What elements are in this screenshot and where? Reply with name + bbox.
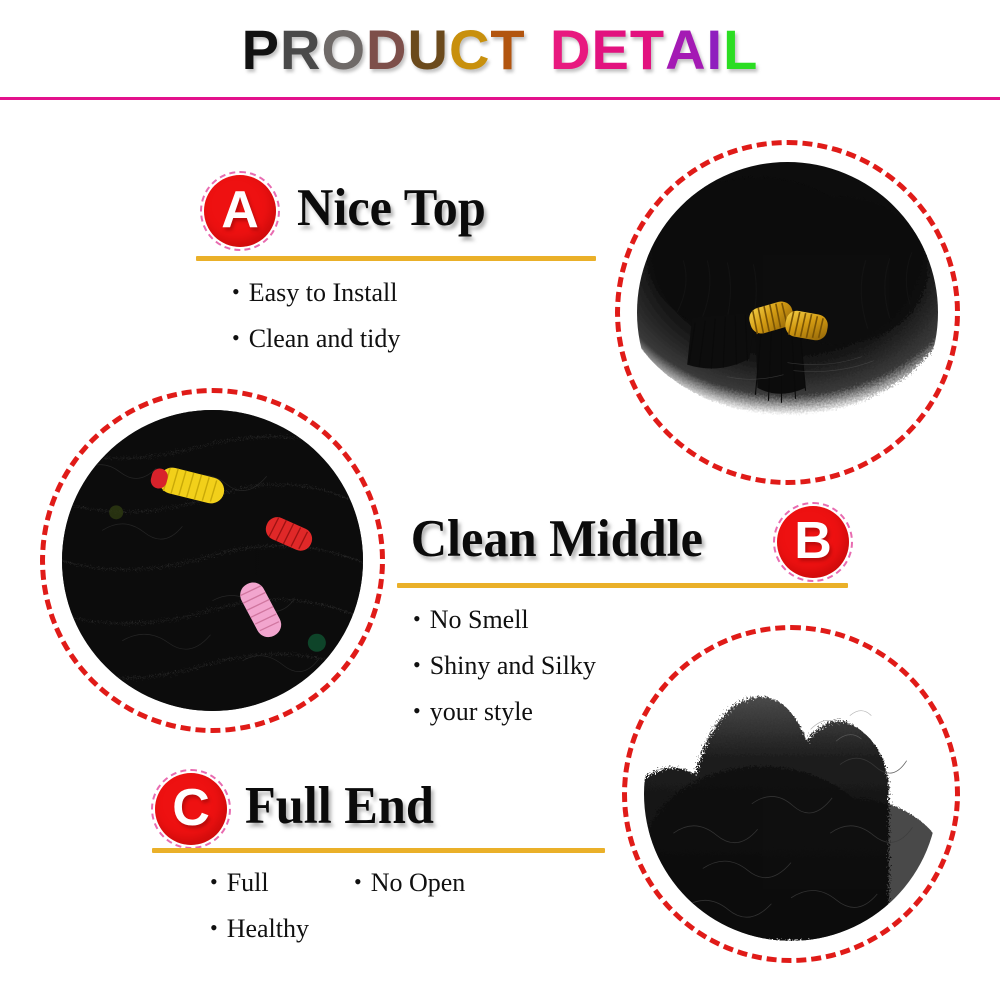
photo-dashed-ring-middle-left	[40, 388, 385, 733]
bullet-marker: •	[232, 281, 240, 303]
title-letter-6: T	[490, 22, 525, 78]
bullet-marker: •	[413, 608, 421, 630]
section-clean-middle: Clean Middle B •No Smell •Shiny and Silk…	[397, 503, 852, 575]
bullet-item: •No Smell	[413, 607, 596, 633]
title-letter-3: D	[366, 22, 407, 78]
bullet-text: Easy to Install	[249, 278, 398, 307]
photo-dashed-ring-bottom-right	[622, 625, 960, 963]
page-header: PRODUCT DETAIL	[0, 0, 1000, 100]
header-divider	[0, 97, 1000, 100]
page-title: PRODUCT DETAIL	[242, 22, 759, 78]
section-a-header: A Nice Top	[196, 172, 616, 244]
section-b-bullets: •No Smell •Shiny and Silky •your style	[413, 607, 596, 745]
title-letter-11: A	[665, 22, 706, 78]
section-a-underline	[196, 256, 596, 261]
bullet-marker: •	[413, 700, 421, 722]
bullet-marker: •	[413, 654, 421, 676]
bullet-item: •Easy to Install	[232, 280, 400, 306]
section-a-title: Nice Top	[297, 182, 486, 235]
section-b-title: Clean Middle	[411, 513, 703, 566]
title-letter-12: I	[707, 22, 724, 78]
photo-hair-tips-with-gold-micro-rings	[615, 140, 960, 485]
title-letter-13: L	[723, 22, 758, 78]
bullet-marker: •	[210, 871, 218, 893]
title-letter-9: E	[592, 22, 630, 78]
section-c-bullets-col2: •No Open	[354, 870, 465, 916]
bullet-item: •Full	[210, 870, 309, 896]
section-c-bullets-col1: •Full •Healthy	[210, 870, 309, 962]
bullet-marker: •	[354, 871, 362, 893]
badge-c: C	[155, 773, 227, 845]
title-letter-0: P	[242, 22, 280, 78]
title-letter-5: C	[449, 22, 490, 78]
bullet-item: •your style	[413, 699, 596, 725]
product-detail-infographic: PRODUCT DETAIL	[0, 0, 1000, 1000]
section-full-end: C Full End •Full •Healthy •No Open	[152, 770, 607, 842]
bullet-item: •Clean and tidy	[232, 326, 400, 352]
bullet-marker: •	[210, 917, 218, 939]
section-c-header: C Full End	[152, 770, 607, 842]
badge-c-letter: C	[172, 782, 210, 834]
title-letter-2: O	[321, 22, 366, 78]
section-c-title: Full End	[245, 780, 434, 833]
photo-hair-full-end-texture	[622, 625, 960, 963]
title-letter-7	[526, 22, 550, 78]
bullet-text: your style	[430, 697, 533, 726]
bullet-text: No Smell	[430, 605, 529, 634]
section-c-bullets: •Full •Healthy •No Open	[152, 870, 607, 940]
section-b-underline	[397, 583, 848, 588]
badge-a-letter: A	[221, 184, 259, 236]
bullet-item: •No Open	[354, 870, 465, 896]
bullet-marker: •	[232, 327, 240, 349]
photo-hair-middle-with-colored-bands	[40, 388, 385, 733]
photo-dashed-ring-top-right	[615, 140, 960, 485]
title-letter-4: U	[408, 22, 449, 78]
section-a-bullets: •Easy to Install •Clean and tidy	[232, 280, 400, 372]
bullet-text: Clean and tidy	[249, 324, 401, 353]
badge-b: B	[777, 506, 849, 578]
section-c-underline	[152, 848, 605, 853]
bullet-text: Full	[227, 868, 269, 897]
bullet-text: Shiny and Silky	[430, 651, 596, 680]
title-letter-1: R	[280, 22, 321, 78]
section-b-header: Clean Middle B	[397, 503, 852, 575]
title-letter-8: D	[550, 22, 591, 78]
section-nice-top: A Nice Top •Easy to Install •Clean and t…	[196, 172, 616, 244]
bullet-item: •Shiny and Silky	[413, 653, 596, 679]
badge-b-letter: B	[794, 515, 832, 567]
bullet-text: Healthy	[227, 914, 309, 943]
bullet-item: •Healthy	[210, 916, 309, 942]
title-letter-10: T	[630, 22, 665, 78]
badge-a: A	[204, 175, 276, 247]
bullet-text: No Open	[371, 868, 466, 897]
